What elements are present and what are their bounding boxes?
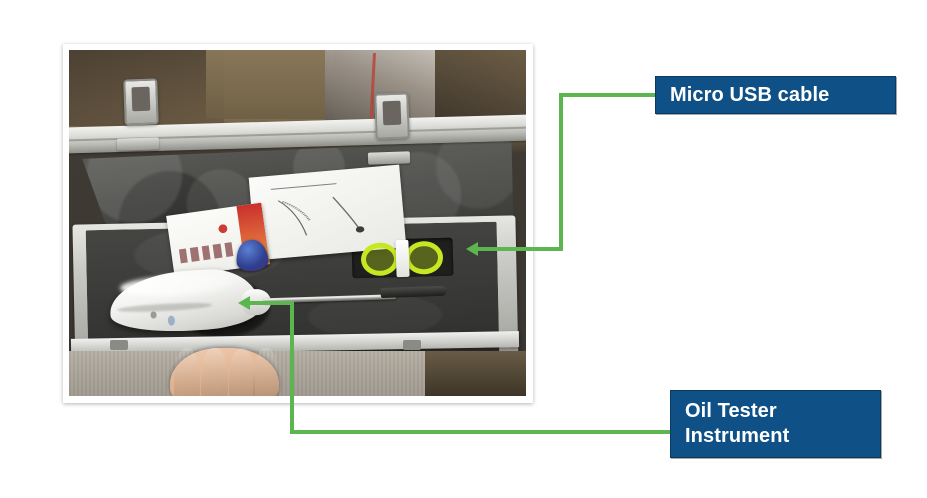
slide-canvas: Micro USB cable Oil Tester Instrument [0,0,927,498]
callout-oil-tester-instrument[interactable]: Oil Tester Instrument [670,390,881,458]
instrument-leader-segment-vertical [290,301,294,434]
case-foot-left [110,340,128,350]
floor-shadow-right [425,351,526,396]
usb-leader-arrow-icon [466,242,478,256]
callout-oil-tester-instrument-label-line2: Instrument [685,424,866,449]
spec-card-logo [211,218,235,239]
manual-probe-diagram [272,190,381,242]
product-photo-frame [63,44,533,403]
case-latch-base-left [117,137,159,150]
finger [229,348,255,396]
product-photo [69,50,526,396]
spec-card-char [178,249,188,264]
usb-leader-segment-horizontal-bottom [478,247,563,251]
micro-usb-cable-object [361,241,444,277]
usb-leader-segment-horizontal-top [559,93,655,97]
callout-micro-usb-cable[interactable]: Micro USB cable [655,76,896,114]
spec-card-char [201,245,211,260]
callout-oil-tester-instrument-label-line1: Oil Tester [685,399,866,424]
usb-leader-segment-vertical [559,93,563,249]
finger [174,348,200,396]
instrument-leader-segment-horizontal-top [250,301,294,305]
spec-card-char [212,244,222,259]
instrument-leader-arrow-icon [238,296,250,310]
cable-tie [395,240,409,277]
case-latch-base-right [368,151,410,164]
spec-card-char [190,247,200,262]
case-foot-right [403,340,421,350]
callout-micro-usb-cable-label: Micro USB cable [670,84,881,107]
case-latch-left [123,79,159,126]
instrument-leader-segment-horizontal-bottom [290,430,670,434]
case-latch-right [374,93,410,140]
finger [201,348,227,396]
background-carton-middle [206,50,334,119]
cable-coil-left [361,242,400,276]
hand-holding-case [170,348,280,396]
cable-coil-right [405,241,444,275]
manual-text-line [271,183,337,190]
instrument-indicator-dot [151,311,157,318]
spec-card-char [224,242,234,257]
